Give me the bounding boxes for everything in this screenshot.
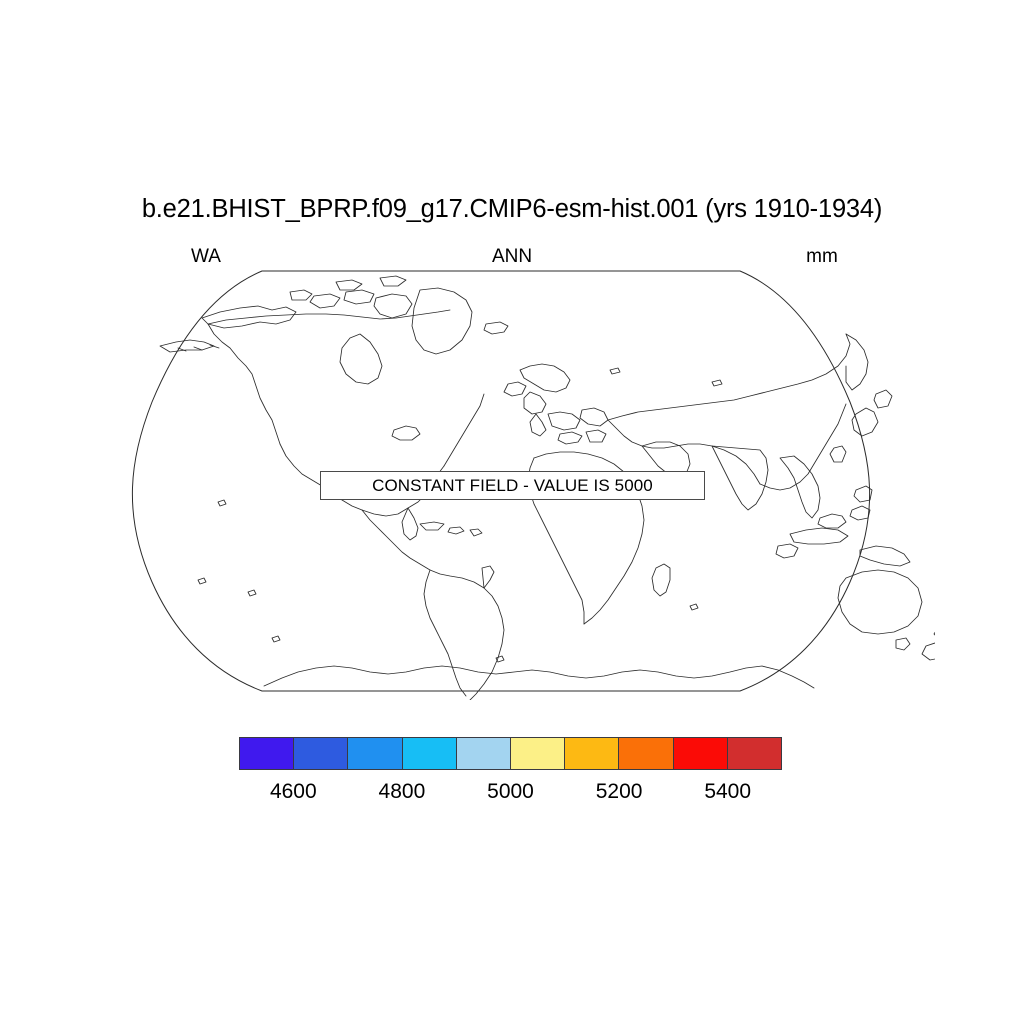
colorbar-tick-label: 4800	[347, 779, 457, 805]
colorbar-segment	[728, 738, 781, 769]
colorbar-segment	[565, 738, 619, 769]
constant-field-annotation: CONSTANT FIELD - VALUE IS 5000	[320, 471, 705, 500]
colorbar-segment	[403, 738, 457, 769]
colorbar-segment	[348, 738, 402, 769]
page-title: b.e21.BHIST_BPRP.f09_g17.CMIP6-esm-hist.…	[0, 194, 1024, 224]
colorbar-tick-label: 5200	[564, 779, 674, 805]
colorbar-segment	[511, 738, 565, 769]
colorbar-tick-label: 5400	[673, 779, 783, 805]
colorbar-segment	[294, 738, 348, 769]
colorbar-segment	[619, 738, 673, 769]
colorbar-segment	[674, 738, 728, 769]
constant-field-text: CONSTANT FIELD - VALUE IS 5000	[372, 476, 653, 495]
colorbar-segment	[457, 738, 511, 769]
colorbar-tick-label: 4600	[238, 779, 348, 805]
climate-map-figure: b.e21.BHIST_BPRP.f09_g17.CMIP6-esm-hist.…	[0, 0, 1024, 1024]
colorbar-segment	[240, 738, 294, 769]
colorbar-segments	[239, 737, 782, 770]
colorbar-tick-labels: 46004800500052005400	[239, 779, 782, 805]
colorbar	[239, 737, 782, 770]
colorbar-tick-label: 5000	[456, 779, 566, 805]
